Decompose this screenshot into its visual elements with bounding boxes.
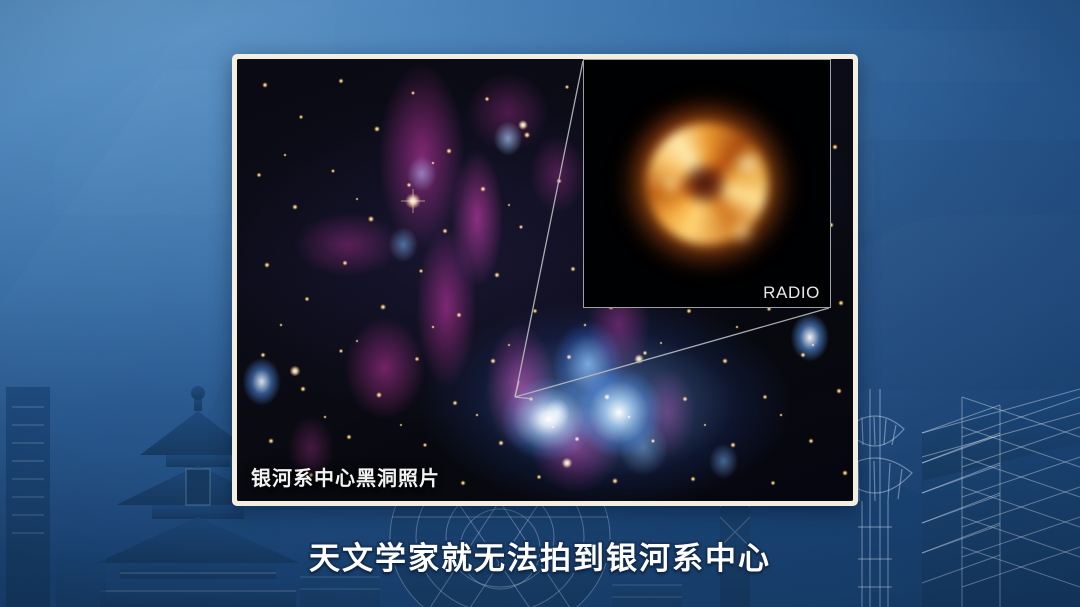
black-hole-radio-inset: RADIO <box>583 59 831 308</box>
black-hole-shadow <box>680 160 729 207</box>
radio-label: RADIO <box>763 283 820 303</box>
galactic-center-photo-frame: RADIO 银河系中心黑洞照片 <box>232 54 858 506</box>
black-hole-knot-upper-right <box>732 149 764 179</box>
galactic-center-photo: RADIO 银河系中心黑洞照片 <box>237 59 853 501</box>
broadcast-screen: RADIO 银河系中心黑洞照片 天文学家就无法拍到银河系中心 <box>0 0 1080 607</box>
subtitle-text: 天文学家就无法拍到银河系中心 <box>0 533 1080 578</box>
photo-caption: 银河系中心黑洞照片 <box>251 462 440 491</box>
